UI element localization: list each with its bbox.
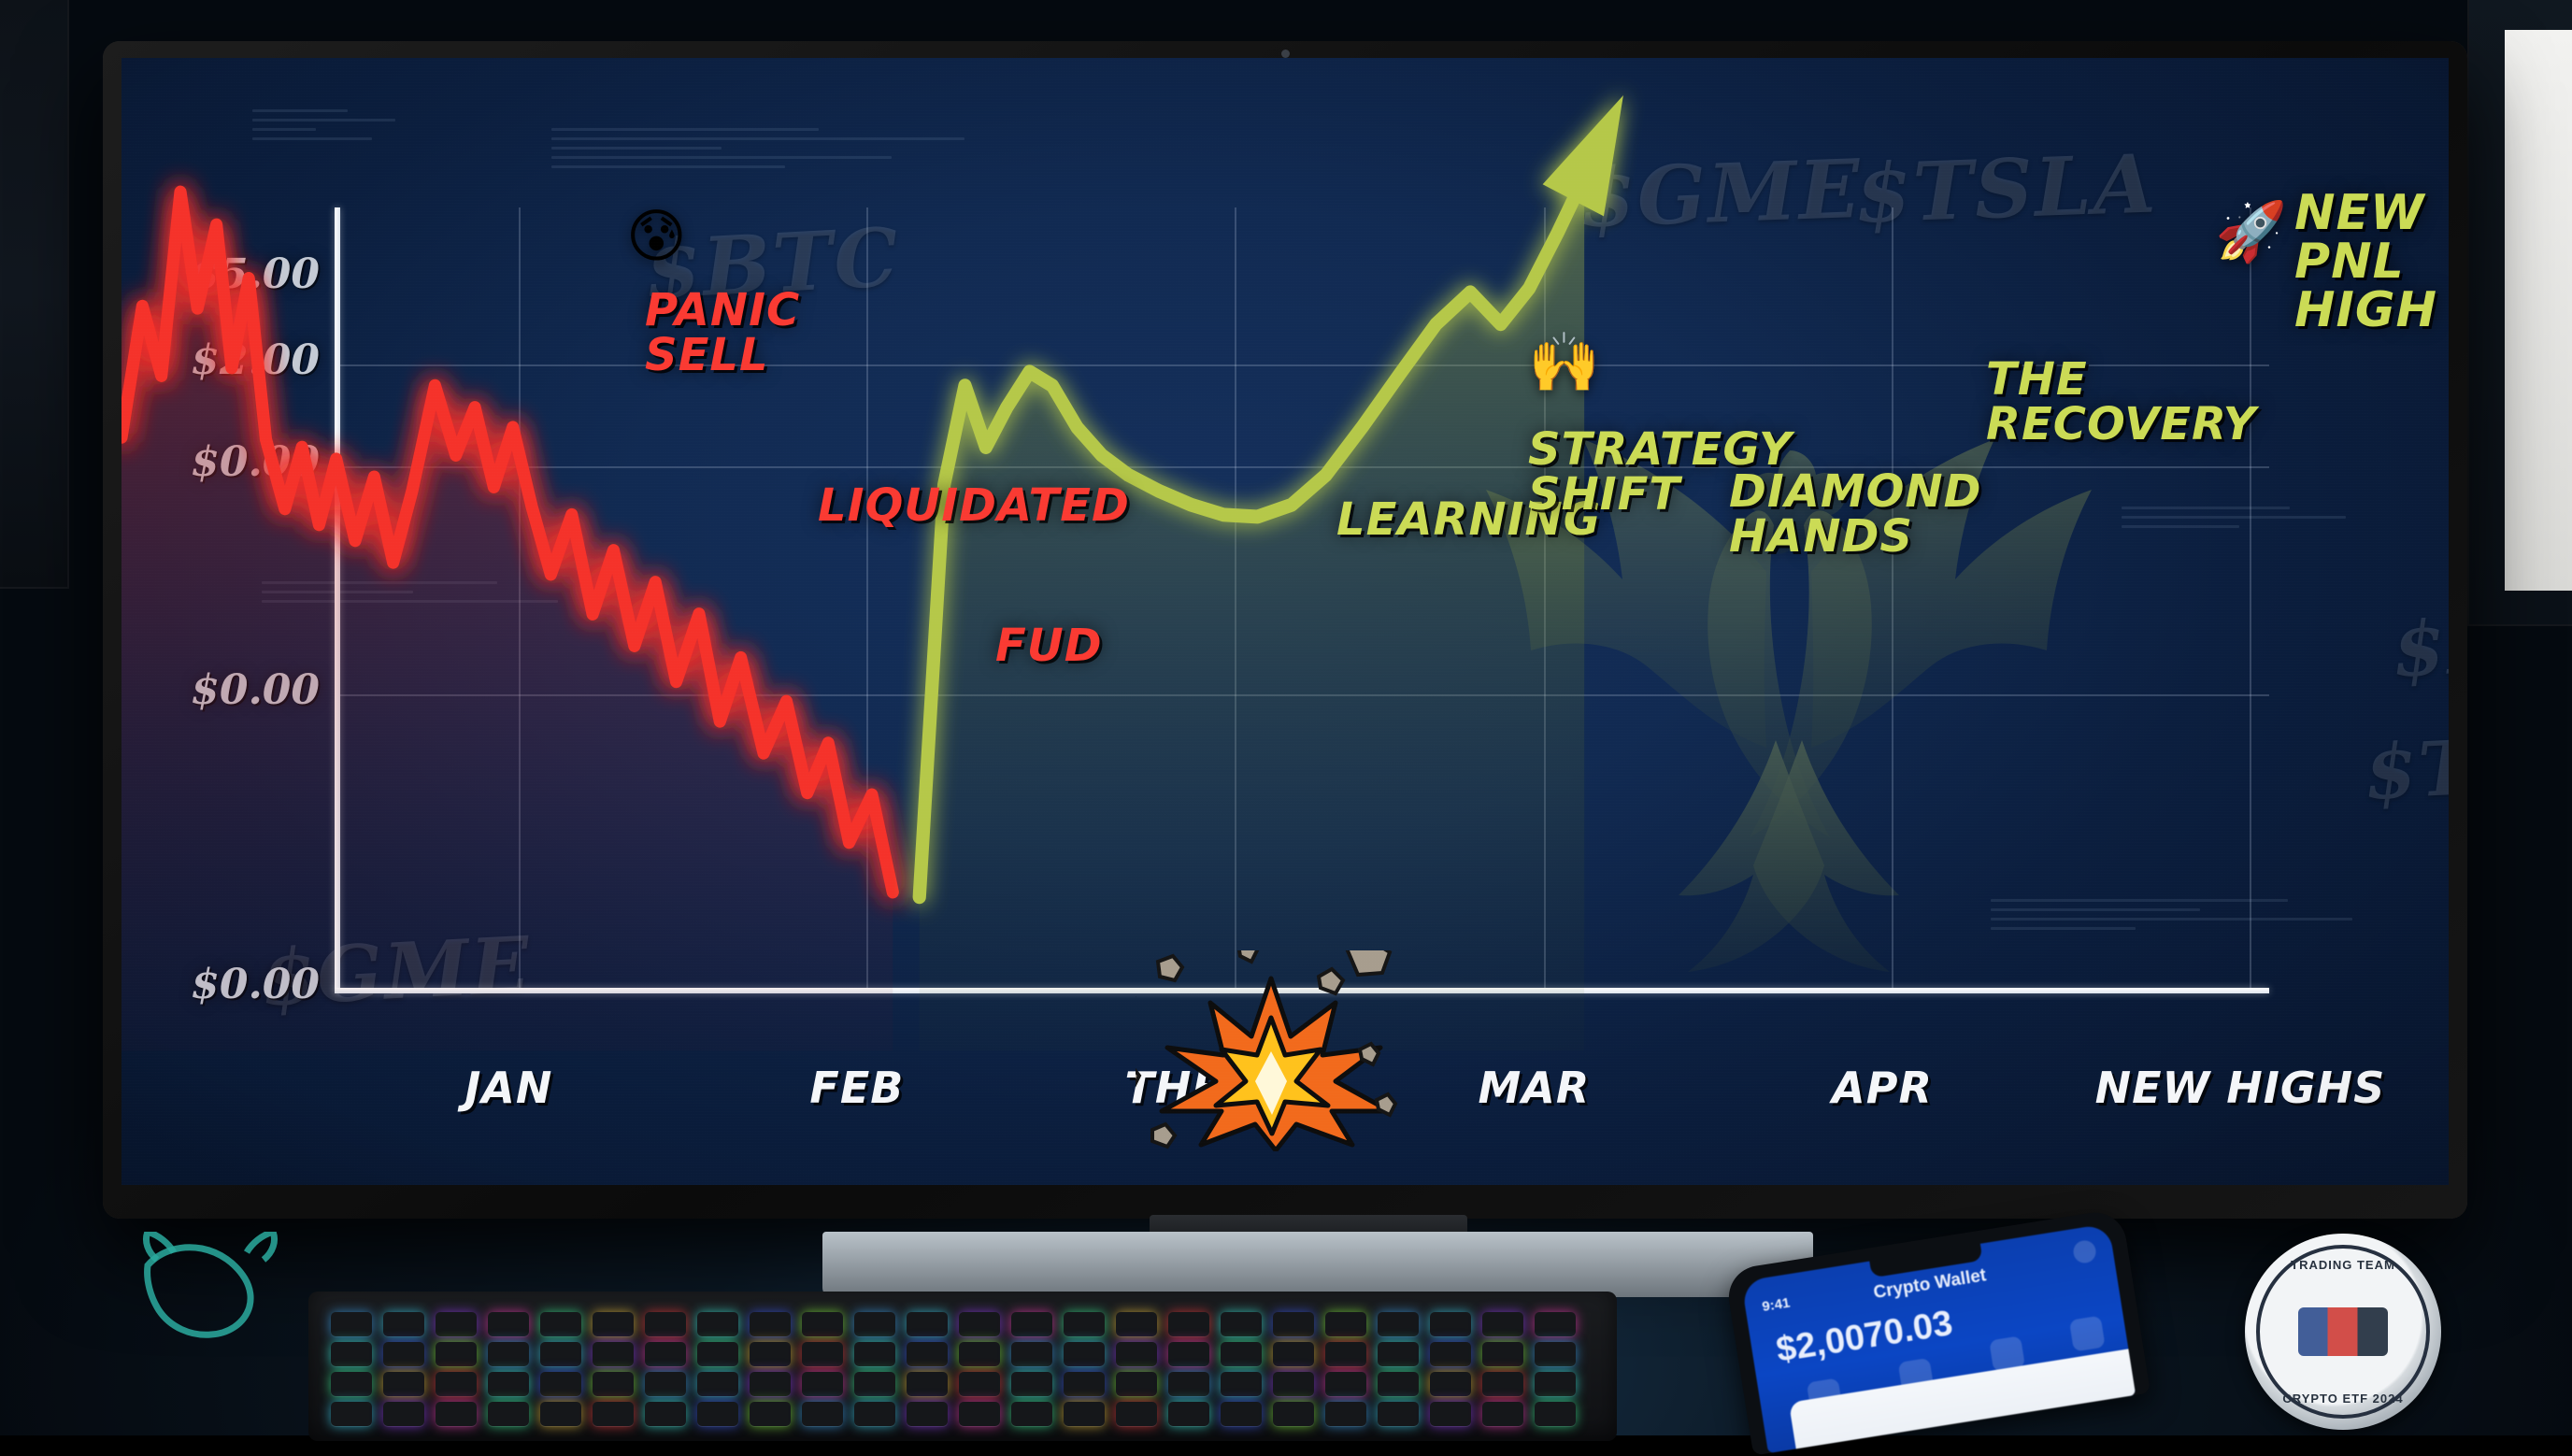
keyboard-key[interactable]: [1064, 1372, 1105, 1396]
keyboard-key[interactable]: [697, 1372, 738, 1396]
keyboard-key[interactable]: [1430, 1312, 1471, 1336]
keyboard-key[interactable]: [540, 1342, 581, 1366]
keyboard-key[interactable]: [697, 1402, 738, 1426]
keyboard-key[interactable]: [907, 1312, 948, 1336]
keyboard-key[interactable]: [645, 1372, 686, 1396]
keyboard-key[interactable]: [1325, 1402, 1366, 1426]
keyboard-key[interactable]: [959, 1312, 1000, 1336]
keyboard-key[interactable]: [1482, 1372, 1523, 1396]
raised-hands-emoji: 🙌: [1528, 334, 1600, 392]
keyboard-key[interactable]: [540, 1402, 581, 1426]
keyboard-key[interactable]: [1325, 1312, 1366, 1336]
keyboard-key[interactable]: [1378, 1402, 1419, 1426]
keyboard-key[interactable]: [1116, 1402, 1157, 1426]
keyboard-key[interactable]: [383, 1342, 424, 1366]
keyboard-key[interactable]: [1168, 1372, 1209, 1396]
keyboard-key[interactable]: [645, 1312, 686, 1336]
keyboard-key[interactable]: [750, 1342, 791, 1366]
keyboard-key[interactable]: [1011, 1342, 1052, 1366]
keyboard-key[interactable]: [1168, 1342, 1209, 1366]
keyboard-key[interactable]: [436, 1312, 477, 1336]
sticker-emblem: [2298, 1307, 2388, 1356]
keyboard-key[interactable]: [331, 1342, 372, 1366]
keyboard-key[interactable]: [1168, 1402, 1209, 1426]
rgb-keyboard[interactable]: [308, 1292, 1617, 1441]
monitor-stand-base: [822, 1232, 1813, 1297]
keyboard-key[interactable]: [1011, 1402, 1052, 1426]
keyboard-key[interactable]: [907, 1342, 948, 1366]
keyboard-key[interactable]: [802, 1372, 843, 1396]
keyboard-key[interactable]: [1482, 1312, 1523, 1336]
keyboard-key[interactable]: [1064, 1342, 1105, 1366]
keyboard-key[interactable]: [959, 1372, 1000, 1396]
right-monitor-white-panel: [2505, 30, 2572, 591]
webcam-dot-icon: [1281, 50, 1290, 58]
annotation-panic-sell: PANIC SELL: [645, 288, 800, 378]
keyboard-key[interactable]: [1535, 1312, 1576, 1336]
keyboard-key[interactable]: [1535, 1402, 1576, 1426]
keyboard-key[interactable]: [383, 1402, 424, 1426]
keyboard-key[interactable]: [697, 1312, 738, 1336]
keyboard-key[interactable]: [1221, 1402, 1262, 1426]
keyboard-key[interactable]: [1064, 1402, 1105, 1426]
keyboard-key[interactable]: [1325, 1372, 1366, 1396]
keyboard-key[interactable]: [1116, 1342, 1157, 1366]
primary-monitor: $BTC$GME$TSLA$BTC$TSLA$GME $5.00$2.00$0.…: [103, 41, 2467, 1219]
cold-sweat-face-emoji: 😰: [626, 207, 687, 265]
keyboard-key[interactable]: [750, 1402, 791, 1426]
explosion-icon: [1136, 950, 1407, 1151]
keyboard-key[interactable]: [593, 1312, 634, 1336]
keyboard-key[interactable]: [593, 1402, 634, 1426]
keyboard-key[interactable]: [802, 1312, 843, 1336]
keyboard-key[interactable]: [1221, 1372, 1262, 1396]
keyboard-key[interactable]: [436, 1402, 477, 1426]
keyboard-key[interactable]: [488, 1372, 529, 1396]
keyboard-key[interactable]: [1535, 1372, 1576, 1396]
keyboard-key[interactable]: [331, 1402, 372, 1426]
keyboard-key[interactable]: [593, 1372, 634, 1396]
keyboard-key[interactable]: [331, 1312, 372, 1336]
keyboard-key[interactable]: [1325, 1342, 1366, 1366]
keyboard-key[interactable]: [488, 1342, 529, 1366]
keyboard-key[interactable]: [1378, 1312, 1419, 1336]
keyboard-key[interactable]: [907, 1372, 948, 1396]
left-side-monitor: [0, 0, 69, 589]
keyboard-key[interactable]: [750, 1372, 791, 1396]
keyboard-key[interactable]: [802, 1342, 843, 1366]
monitor-bezel: $BTC$GME$TSLA$BTC$TSLA$GME $5.00$2.00$0.…: [103, 41, 2467, 1219]
keyboard-key[interactable]: [959, 1342, 1000, 1366]
keyboard-key[interactable]: [1273, 1402, 1314, 1426]
keyboard-key[interactable]: [331, 1372, 372, 1396]
keyboard-key[interactable]: [1535, 1342, 1576, 1366]
keyboard-key[interactable]: [1168, 1312, 1209, 1336]
keyboard-key[interactable]: [540, 1312, 581, 1336]
chart-screen: $BTC$GME$TSLA$BTC$TSLA$GME $5.00$2.00$0.…: [121, 58, 2449, 1185]
sticker-top-text: TRADING TEAM: [2245, 1258, 2441, 1272]
keyboard-key[interactable]: [645, 1402, 686, 1426]
keyboard-key[interactable]: [1378, 1342, 1419, 1366]
keyboard-key[interactable]: [593, 1342, 634, 1366]
bull-logo-sticker: [121, 1232, 299, 1363]
keyboard-key[interactable]: [854, 1372, 895, 1396]
keyboard-key[interactable]: [802, 1402, 843, 1426]
keyboard-key[interactable]: [436, 1342, 477, 1366]
desk-scene: $BTC$GME$TSLA$BTC$TSLA$GME $5.00$2.00$0.…: [0, 0, 2572, 1435]
keyboard-key[interactable]: [854, 1402, 895, 1426]
keyboard-key[interactable]: [1430, 1342, 1471, 1366]
up-arrow-head-icon: [1543, 95, 1623, 216]
keyboard-key[interactable]: [436, 1372, 477, 1396]
keyboard-key[interactable]: [959, 1402, 1000, 1426]
keyboard-key[interactable]: [1430, 1402, 1471, 1426]
annotation-new-pnl-high: NEW PNL HIGH: [2294, 189, 2449, 335]
keyboard-key[interactable]: [1482, 1342, 1523, 1366]
keyboard-key[interactable]: [1116, 1312, 1157, 1336]
annotation-liquidated: LIQUIDATED: [818, 483, 1130, 528]
keyboard-key[interactable]: [750, 1312, 791, 1336]
annotation-the-recovery: THE RECOVERY: [1986, 357, 2256, 447]
keyboard-key[interactable]: [1273, 1372, 1314, 1396]
keyboard-key[interactable]: [1011, 1312, 1052, 1336]
keyboard-key[interactable]: [854, 1342, 895, 1366]
keyboard-key[interactable]: [383, 1372, 424, 1396]
keyboard-key[interactable]: [1116, 1372, 1157, 1396]
keyboard-key[interactable]: [488, 1312, 529, 1336]
rocket-emoji: 🚀: [2215, 203, 2287, 261]
keyboard-key[interactable]: [1011, 1372, 1052, 1396]
phone-action-more-icon[interactable]: [2069, 1316, 2106, 1352]
keyboard-key[interactable]: [1482, 1402, 1523, 1426]
keyboard-key[interactable]: [1221, 1312, 1262, 1336]
right-side-monitor: [2467, 0, 2572, 626]
keyboard-key[interactable]: [1221, 1342, 1262, 1366]
keyboard-key[interactable]: [1378, 1372, 1419, 1396]
keyboard-key[interactable]: [645, 1342, 686, 1366]
sticker-bottom-text: CRYPTO ETF 2024: [2245, 1392, 2441, 1406]
annotation-diamond-hands: DIAMOND HANDS: [1729, 469, 1981, 559]
keyboard-key[interactable]: [540, 1372, 581, 1396]
keyboard-key[interactable]: [907, 1402, 948, 1426]
keyboard-key[interactable]: [854, 1312, 895, 1336]
trading-team-sticker: TRADING TEAM CRYPTO ETF 2024: [2245, 1234, 2441, 1430]
keyboard-key[interactable]: [1273, 1312, 1314, 1336]
keyboard-key[interactable]: [488, 1402, 529, 1426]
keyboard-key[interactable]: [1064, 1312, 1105, 1336]
keyboard-key[interactable]: [1273, 1342, 1314, 1366]
annotation-fud: FUD: [995, 623, 1103, 668]
keyboard-key[interactable]: [383, 1312, 424, 1336]
keyboard-key[interactable]: [697, 1342, 738, 1366]
keyboard-key[interactable]: [1430, 1372, 1471, 1396]
